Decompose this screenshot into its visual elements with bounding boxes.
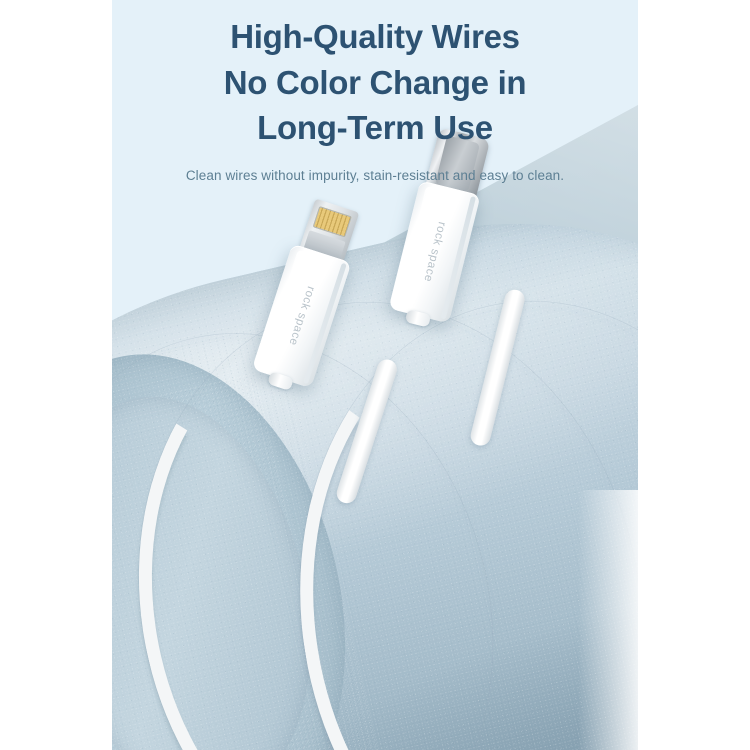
brand-label-usbc: rock space bbox=[421, 221, 448, 284]
page-title: High-Quality Wires No Color Change in Lo… bbox=[112, 14, 638, 151]
content-panel: rock space rock space High-Quality bbox=[112, 0, 638, 750]
headline-line-1: High-Quality Wires bbox=[112, 14, 638, 60]
headline-line-3: Long-Term Use bbox=[112, 105, 638, 151]
panel-right-fade bbox=[578, 490, 638, 750]
page-subtitle: Clean wires without impurity, stain-resi… bbox=[112, 168, 638, 183]
headline-line-2: No Color Change in bbox=[112, 60, 638, 106]
product-marketing-image: rock space rock space High-Quality bbox=[0, 0, 750, 750]
